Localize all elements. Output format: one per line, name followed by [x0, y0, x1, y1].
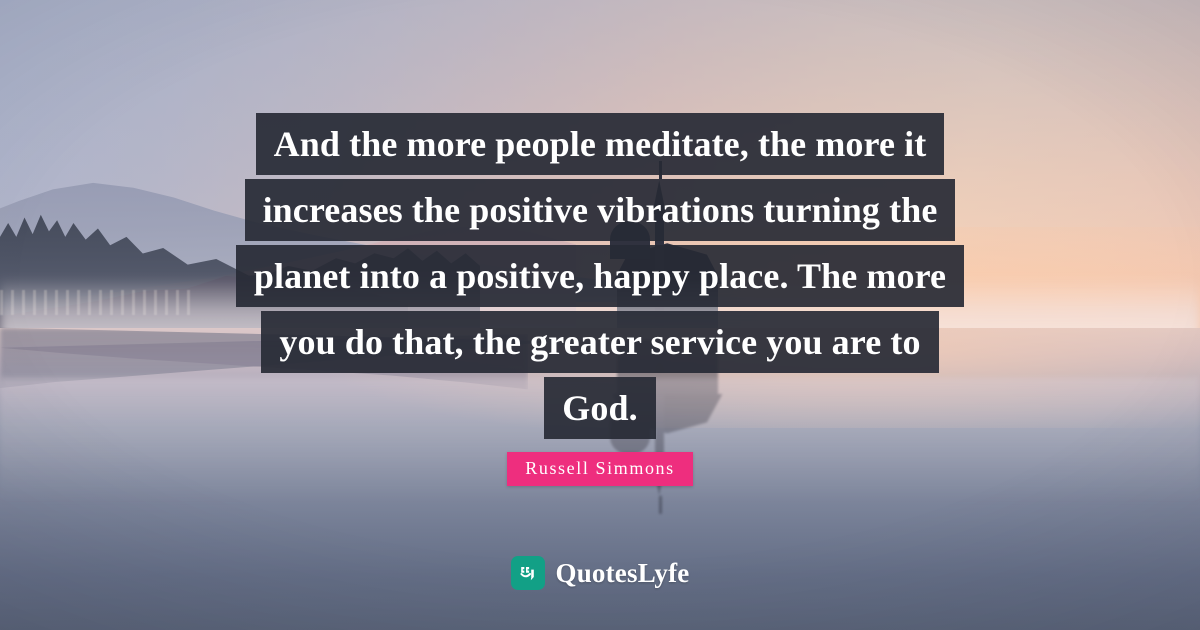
quote-line: And the more people meditate, the more i…: [256, 113, 945, 175]
quote-line: planet into a positive, happy place. The…: [236, 245, 964, 307]
quote-line: you do that, the greater service you are…: [261, 311, 938, 373]
quote-text-block: And the more people meditate, the more i…: [0, 113, 1200, 439]
quote-image-canvas: And the more people meditate, the more i…: [0, 0, 1200, 630]
brand-name: QuotesLyfe: [556, 560, 690, 587]
author-name-badge[interactable]: Russell Simmons: [507, 452, 693, 486]
quote-line: God.: [544, 377, 655, 439]
brand-watermark[interactable]: QuotesLyfe: [0, 556, 1200, 590]
author-badge-wrapper: Russell Simmons: [0, 452, 1200, 486]
quote-smiley-icon: [511, 556, 545, 590]
quote-line: increases the positive vibrations turnin…: [245, 179, 956, 241]
